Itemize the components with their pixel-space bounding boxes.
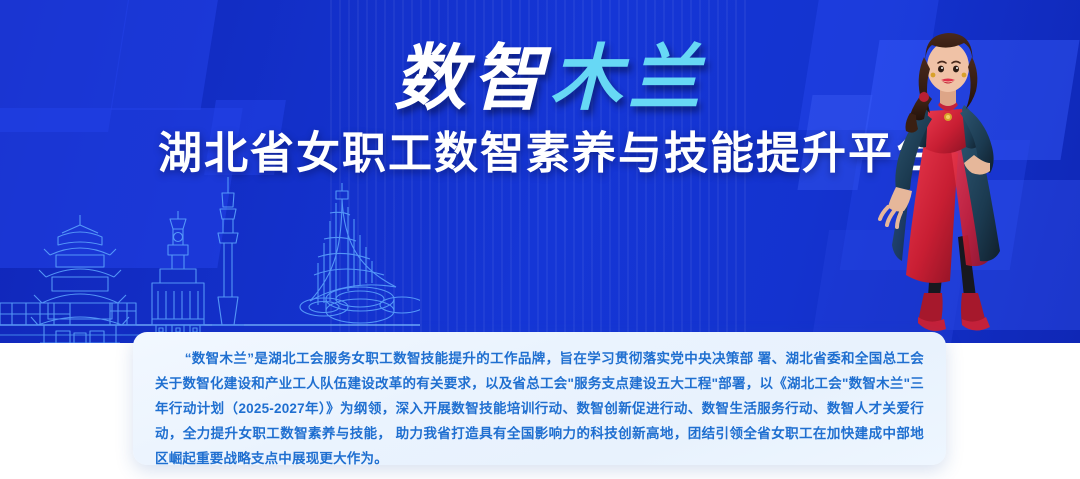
hero-banner: 数智木兰 湖北省女职工数智素养与技能提升平台 [0,0,1080,343]
page-root: 数智木兰 湖北省女职工数智素养与技能提升平台 [0,0,1080,479]
mulan-character-icon [854,13,1044,343]
wuhan-skyline-icon [0,153,420,343]
intro-card: “数智木兰”是湖北工会服务女职工数智技能提升的工作品牌，旨在学习贯彻落实党中央决… [133,332,946,465]
brand-title-white: 数智 [394,35,550,120]
brand-title-cyan: 木兰 [550,35,706,120]
intro-paragraph: “数智木兰”是湖北工会服务女职工数智技能提升的工作品牌，旨在学习贯彻落实党中央决… [155,346,924,465]
